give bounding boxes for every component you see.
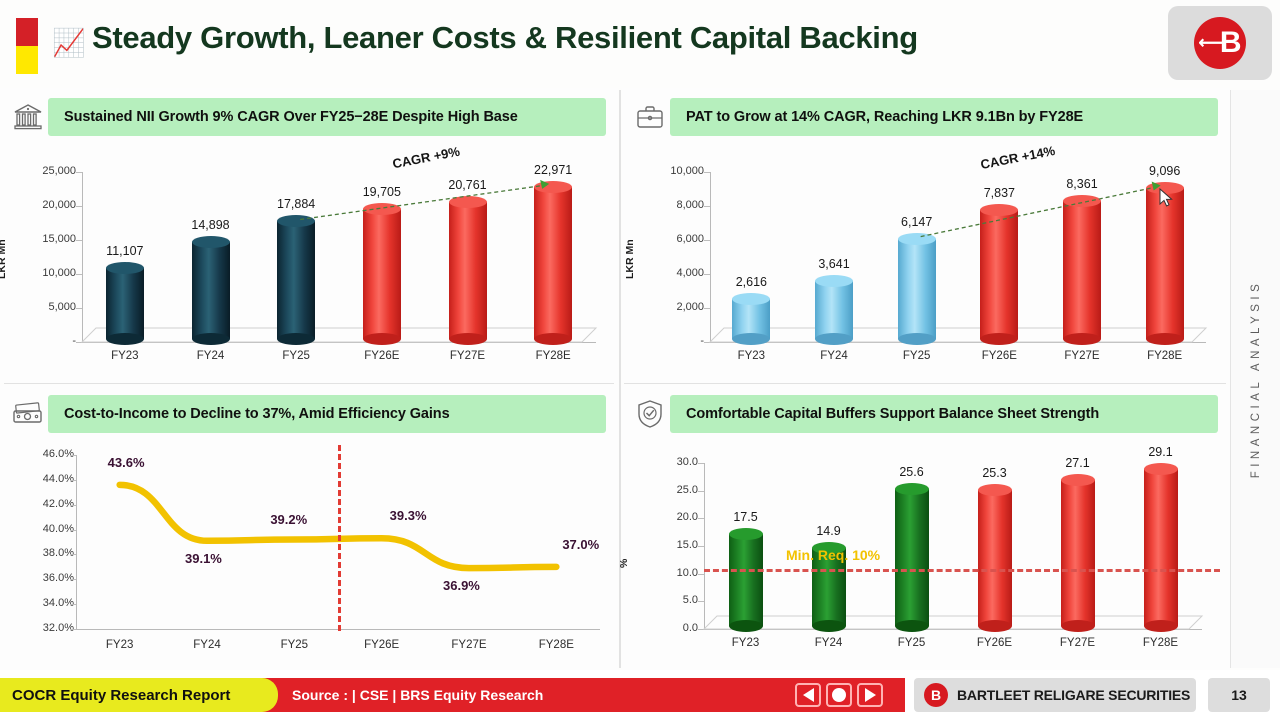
page-title: Steady Growth, Leaner Costs & Resilient … (92, 20, 918, 56)
circle-icon (832, 688, 846, 702)
minimum-requirement-label: Min. Req. 10% (786, 547, 880, 563)
bar-body (978, 490, 1012, 626)
data-point-label: 36.9% (443, 578, 480, 593)
panel-cost-header: Cost-to-Income to Decline to 37%, Amid E… (8, 393, 606, 435)
brand-logo-circle: ⟵B (1194, 17, 1246, 69)
bar-bottom (1144, 620, 1178, 632)
panel-cost-heading: Cost-to-Income to Decline to 37%, Amid E… (48, 395, 606, 433)
bar-FY27E (1061, 474, 1095, 632)
x-axis-label: FY28E (526, 639, 586, 651)
panel-pat: PAT to Grow at 14% CAGR, Reaching LKR 9.… (622, 88, 1230, 383)
footer-source-label: Source : | CSE | BRS Equity Research (292, 678, 543, 712)
bar-value-label: 25.3 (960, 466, 1030, 480)
data-point-label: 39.1% (185, 551, 222, 566)
bar-bottom (729, 620, 763, 632)
x-axis-label: FY27E (1048, 637, 1108, 649)
slide-footer: COCR Equity Research Report Source : | C… (0, 670, 1280, 720)
bar-value-label: 25.6 (877, 465, 947, 479)
panel-nii-header: Sustained NII Growth 9% CAGR Over FY25−2… (8, 96, 606, 138)
panel-cost-to-income: Cost-to-Income to Decline to 37%, Amid E… (0, 385, 618, 670)
triangle-right-icon (865, 688, 876, 702)
bar-body (1061, 480, 1095, 626)
company-name: BARTLEET RELIGARE SECURITIES (957, 687, 1190, 703)
bar-body (1144, 469, 1178, 626)
shield-check-icon (630, 396, 670, 432)
minimum-requirement-line (704, 569, 1220, 572)
chart-nii: -5,00010,00015,00020,00025,000LKR Mn11,1… (0, 142, 618, 382)
x-axis-label: FY23 (90, 639, 150, 651)
mouse-cursor (1159, 188, 1175, 210)
bar-bottom (895, 620, 929, 632)
bar-bottom (1061, 620, 1095, 632)
accent-bar-red (16, 18, 38, 46)
brand-logo: ⟵B (1168, 6, 1272, 80)
forecast-divider-line (338, 445, 341, 631)
bar-bottom (978, 620, 1012, 632)
x-axis-label: FY23 (716, 637, 776, 649)
bar-FY28E (1144, 463, 1178, 632)
cagr-trend-arrow (0, 142, 618, 382)
page-number: 13 (1208, 678, 1270, 712)
data-point-label: 39.2% (270, 512, 307, 527)
footer-nav-buttons[interactable] (795, 683, 883, 707)
bar-bottom (812, 620, 846, 632)
chart-increasing-icon: 📈 (52, 28, 84, 58)
next-slide-button[interactable] (857, 683, 883, 707)
x-axis-label: FY25 (882, 637, 942, 649)
chart-cost-to-income: 32.0%34.0%36.0%38.0%40.0%42.0%44.0%46.0%… (0, 439, 618, 667)
chart-pat: -2,0004,0006,0008,00010,000LKR Mn2,616FY… (622, 142, 1230, 382)
data-point-label: 39.3% (390, 508, 427, 523)
chart-capital-adequacy: 0.05.010.015.020.025.030.0%17.5FY2314.9F… (622, 439, 1230, 667)
brand-logo-letter: B (1220, 26, 1242, 60)
slide-title-bar: 📈 Steady Growth, Leaner Costs & Resilien… (0, 0, 1280, 88)
bar-value-label: 27.1 (1043, 456, 1113, 470)
bar-top (895, 483, 929, 495)
footer-report-label: COCR Equity Research Report (0, 678, 278, 712)
footer-company: B BARTLEET RELIGARE SECURITIES (914, 678, 1196, 712)
cagr-trend-arrow (622, 142, 1230, 382)
panel-nii-heading: Sustained NII Growth 9% CAGR Over FY25−2… (48, 98, 606, 136)
panel-nii: Sustained NII Growth 9% CAGR Over FY25−2… (0, 88, 618, 383)
side-section-label: FINANCIAL ANALYSIS (1250, 280, 1262, 479)
bar-FY23 (729, 528, 763, 633)
panel-capital-header: Comfortable Capital Buffers Support Bala… (630, 393, 1218, 435)
data-point-label: 43.6% (108, 455, 145, 470)
accent-bar-yellow (16, 46, 38, 74)
accent-bar (16, 18, 38, 74)
panel-pat-heading: PAT to Grow at 14% CAGR, Reaching LKR 9.… (670, 98, 1218, 136)
bar-top (729, 528, 763, 540)
vertical-divider (619, 90, 621, 668)
company-logo-icon: B (924, 683, 948, 707)
x-axis-label: FY26E (352, 639, 412, 651)
briefcase-icon (630, 99, 670, 135)
slide-root: 📈 Steady Growth, Leaner Costs & Resilien… (0, 0, 1280, 720)
cost-income-line (0, 439, 618, 667)
bar-value-label: 29.1 (1126, 445, 1196, 459)
x-axis-label: FY26E (965, 637, 1025, 649)
x-axis-label: FY24 (177, 639, 237, 651)
bar-FY26E (978, 484, 1012, 632)
stop-button[interactable] (826, 683, 852, 707)
panel-capital: Comfortable Capital Buffers Support Bala… (622, 385, 1230, 670)
x-axis-label: FY28E (1131, 637, 1191, 649)
bar-value-label: 14.9 (794, 524, 864, 538)
side-section-strip: FINANCIAL ANALYSIS (1230, 90, 1280, 668)
triangle-left-icon (803, 688, 814, 702)
banknotes-icon (8, 396, 48, 432)
bar-FY25 (895, 483, 929, 633)
bar-body (895, 489, 929, 627)
x-axis-label: FY27E (439, 639, 499, 651)
x-axis-label: FY24 (799, 637, 859, 649)
previous-slide-button[interactable] (795, 683, 821, 707)
x-axis-label: FY25 (264, 639, 324, 651)
panel-capital-heading: Comfortable Capital Buffers Support Bala… (670, 395, 1218, 433)
data-point-label: 37.0% (562, 537, 599, 552)
panel-pat-header: PAT to Grow at 14% CAGR, Reaching LKR 9.… (630, 96, 1218, 138)
bar-body (729, 534, 763, 627)
bank-icon (8, 99, 48, 135)
bar-value-label: 17.5 (711, 510, 781, 524)
company-logo-letter: B (931, 687, 941, 703)
